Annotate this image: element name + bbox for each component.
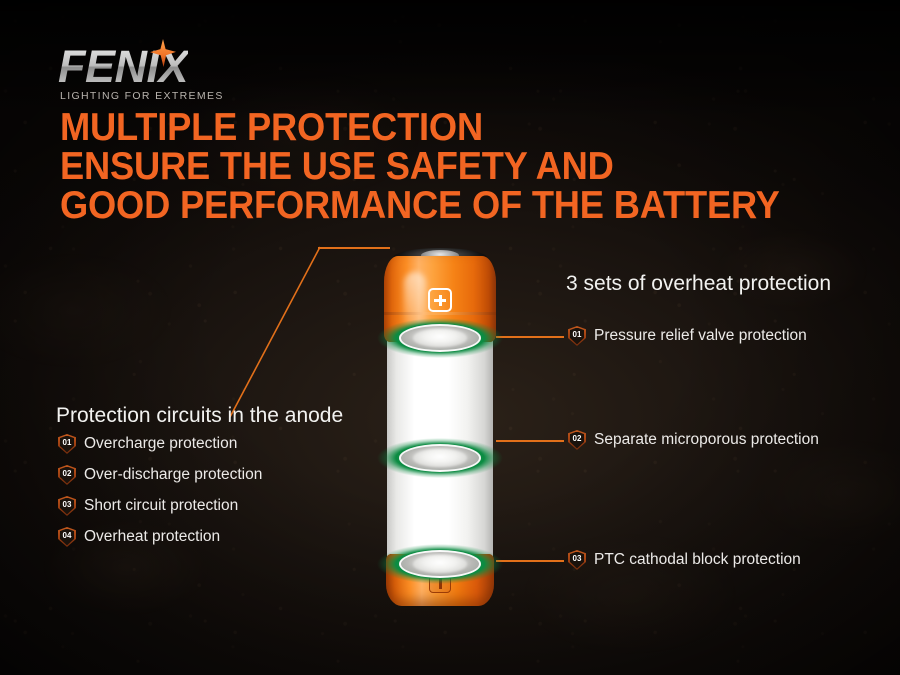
left-list-item-label: Overheat protection xyxy=(84,528,220,546)
fenix-logo: FENIX LIGHTING FOR EXTREMES xyxy=(58,36,288,104)
headline: MULTIPLE PROTECTION ENSURE THE USE SAFET… xyxy=(60,108,780,225)
protection-ring-3 xyxy=(377,544,503,584)
shield-number: 04 xyxy=(58,527,76,547)
left-list-item-01: 01 Overcharge protection xyxy=(58,434,262,454)
battery-cap-seam xyxy=(384,312,496,315)
shield-number: 03 xyxy=(58,496,76,516)
battery-illustration xyxy=(381,248,499,610)
left-list-item-label: Overcharge protection xyxy=(84,435,237,453)
right-list-item-02: 02 Separate microporous protection xyxy=(568,430,819,450)
leader-line-01 xyxy=(496,336,564,338)
protection-ring-2 xyxy=(377,438,503,478)
brand-tagline: LIGHTING FOR EXTREMES xyxy=(60,90,224,102)
shield-number: 02 xyxy=(58,465,76,485)
shield-number: 02 xyxy=(568,430,586,450)
leader-line-03 xyxy=(496,560,564,562)
shield-badge-icon: 03 xyxy=(568,550,586,570)
shield-badge-icon: 01 xyxy=(58,434,76,454)
shield-badge-icon: 01 xyxy=(568,326,586,346)
ring-core xyxy=(413,449,467,467)
shield-badge-icon: 04 xyxy=(58,527,76,547)
shield-number: 01 xyxy=(58,434,76,454)
battery-plus-icon xyxy=(428,288,452,312)
shield-badge-icon: 02 xyxy=(568,430,586,450)
shield-number: 03 xyxy=(568,550,586,570)
leader-line-02 xyxy=(496,440,564,442)
right-list-item-label: PTC cathodal block protection xyxy=(594,551,801,569)
right-list-item-label: Pressure relief valve protection xyxy=(594,327,807,345)
shield-badge-icon: 03 xyxy=(58,496,76,516)
ring-core xyxy=(413,329,467,347)
right-list-item-03: 03 PTC cathodal block protection xyxy=(568,550,801,570)
leader-line-anode-diagonal xyxy=(230,247,320,417)
shield-badge-icon: 02 xyxy=(58,465,76,485)
left-list: 01 Overcharge protection 02 Over-dischar… xyxy=(58,434,262,547)
right-section-title: 3 sets of overheat protection xyxy=(566,272,831,296)
left-list-item-label: Over-discharge protection xyxy=(84,466,262,484)
infographic-poster: FENIX LIGHTING FOR EXTREMES MULTIPLE PRO… xyxy=(0,0,900,675)
protection-ring-1 xyxy=(377,318,503,358)
right-list-item-label: Separate microporous protection xyxy=(594,431,819,449)
left-list-item-label: Short circuit protection xyxy=(84,497,238,515)
headline-line-2: ENSURE THE USE SAFETY AND xyxy=(60,147,780,186)
left-list-item-04: 04 Overheat protection xyxy=(58,527,262,547)
right-list-item-01: 01 Pressure relief valve protection xyxy=(568,326,807,346)
left-section-title: Protection circuits in the anode xyxy=(56,404,343,428)
left-list-item-02: 02 Over-discharge protection xyxy=(58,465,262,485)
leader-line-anode-horizontal xyxy=(318,247,390,249)
headline-line-1: MULTIPLE PROTECTION xyxy=(60,108,780,147)
shield-number: 01 xyxy=(568,326,586,346)
ring-core xyxy=(413,555,467,573)
headline-line-3: GOOD PERFORMANCE OF THE BATTERY xyxy=(60,186,780,225)
left-list-item-03: 03 Short circuit protection xyxy=(58,496,262,516)
